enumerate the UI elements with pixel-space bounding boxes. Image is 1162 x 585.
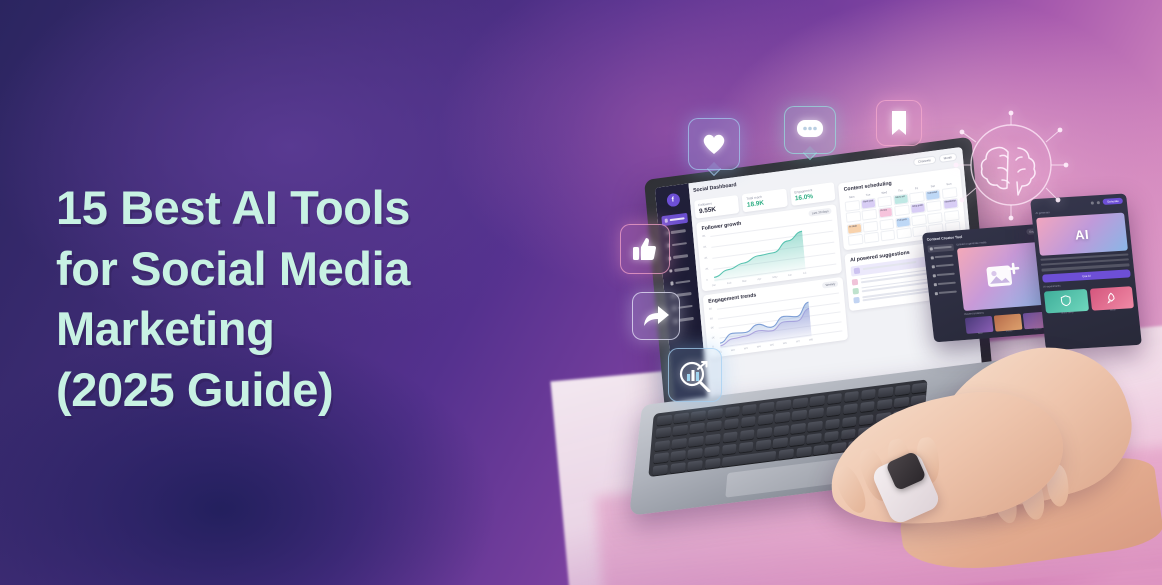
chart-y-tick: 1K xyxy=(711,336,714,339)
keyboard-key[interactable] xyxy=(724,419,739,430)
sidebar-item-label xyxy=(674,267,689,272)
creator-nav-label xyxy=(937,273,955,276)
keyboard-key[interactable] xyxy=(758,414,773,425)
keyboard-key[interactable] xyxy=(687,448,702,459)
calendar-cell[interactable]: Poll post xyxy=(895,216,911,228)
keyboard-key[interactable] xyxy=(859,414,874,425)
calendar-cell[interactable] xyxy=(927,212,943,224)
comment-glyph xyxy=(796,119,824,141)
engagement-trends-card: Weekly Engagement trends 01K2K3K4KW1W2W3… xyxy=(703,277,849,358)
keyboard-key[interactable] xyxy=(670,462,686,473)
headline-line-1: 15 Best AI Tools xyxy=(56,178,576,239)
chart-x-tick: W7 xyxy=(796,340,800,344)
calendar-cell[interactable]: AI draft xyxy=(847,222,863,234)
chart-y-tick: 4K xyxy=(709,307,712,310)
chart-x-tick: Feb xyxy=(727,282,732,286)
calendar-cell[interactable] xyxy=(864,232,880,244)
keyboard-key[interactable] xyxy=(827,393,842,404)
ai-panel-dot xyxy=(1091,201,1094,204)
keyboard-key[interactable] xyxy=(705,458,721,469)
keyboard-key[interactable] xyxy=(670,450,685,461)
calendar-cell[interactable] xyxy=(845,199,861,211)
sidebar-item-label xyxy=(676,292,691,297)
keyboard-key[interactable] xyxy=(808,420,823,431)
headline-line-2: for Social Media xyxy=(56,239,576,300)
keyboard-key[interactable] xyxy=(774,425,789,436)
bookmark-icon xyxy=(876,100,922,146)
page-title: 15 Best AI Tools for Social Media Market… xyxy=(56,178,576,421)
chart-y-tick: 8K xyxy=(702,235,705,238)
ai-brain-icon xyxy=(952,108,1070,226)
creator-nav-label xyxy=(935,255,953,258)
calendar-cell[interactable] xyxy=(926,200,942,212)
creator-nav-settings[interactable] xyxy=(932,288,959,297)
chart-x-tick: W5 xyxy=(770,344,774,348)
bookmark-glyph xyxy=(889,110,909,136)
keyboard-key[interactable] xyxy=(844,391,859,402)
keyboard-key[interactable] xyxy=(705,446,720,457)
chart-x-tick: W8 xyxy=(809,338,813,342)
chart-x-tick: Jun xyxy=(788,274,792,278)
rocket-icon xyxy=(1089,286,1134,310)
keyboard-key[interactable] xyxy=(912,383,927,394)
calendar-cell[interactable] xyxy=(846,211,862,223)
calendar-cell[interactable]: Story set xyxy=(893,193,909,205)
keyboard-key[interactable] xyxy=(778,449,794,460)
shield-icon xyxy=(1044,289,1089,313)
analytics-search-icon xyxy=(668,348,722,402)
heart-icon xyxy=(688,118,740,170)
keyboard-key[interactable] xyxy=(773,437,788,448)
nav-bullet-icon xyxy=(669,269,673,273)
keyboard-key[interactable] xyxy=(657,415,672,426)
creator-nav-icon xyxy=(931,265,934,268)
suggestion-text-line xyxy=(863,261,916,270)
keyboard-key[interactable] xyxy=(776,400,791,411)
keyboard-key[interactable] xyxy=(809,408,824,419)
keyboard-key[interactable] xyxy=(759,402,774,413)
sidebar-item-dashboard[interactable] xyxy=(661,213,688,226)
creator-thumbnails[interactable]: ReelPromoLaunch xyxy=(965,311,1052,336)
headline-line-3: Marketing xyxy=(56,299,576,360)
chart-y-tick: 2K xyxy=(711,326,714,329)
calendar-post-chip[interactable]: IG live xyxy=(879,208,892,218)
sidebar-item-label xyxy=(675,280,690,285)
chart-x-tick: May xyxy=(772,275,777,279)
calendar-cell[interactable] xyxy=(909,191,925,203)
creator-nav-icon xyxy=(930,256,933,259)
creator-nav-publish[interactable] xyxy=(931,279,958,288)
creator-nav-icon xyxy=(929,247,932,250)
headline-line-4: (2025 Guide) xyxy=(56,360,576,421)
chart-x-tick: Jan xyxy=(712,284,716,288)
creator-nav-label xyxy=(938,282,956,285)
sidebar-item-label xyxy=(670,217,685,222)
keyboard-key[interactable] xyxy=(674,413,689,424)
creator-nav-icon xyxy=(933,283,936,286)
keyboard-key[interactable] xyxy=(807,433,822,444)
keyboard-key[interactable] xyxy=(673,425,688,436)
calendar-cell[interactable] xyxy=(879,218,895,230)
brand-logo: f xyxy=(666,193,680,208)
heart-glyph xyxy=(701,132,727,156)
chart-y-tick: 0 xyxy=(706,279,708,282)
keyboard-key[interactable] xyxy=(877,399,892,410)
calendar-post-chip[interactable]: Story set xyxy=(894,194,907,204)
creator-panel-body: Upload or generate media Recent creation… xyxy=(927,236,1051,338)
keyboard-key[interactable] xyxy=(878,387,893,398)
keyboard-key[interactable] xyxy=(691,411,706,422)
comment-icon xyxy=(784,106,836,154)
creator-nav-label xyxy=(936,264,954,267)
creator-nav-brand[interactable] xyxy=(928,252,955,261)
sidebar-item-label xyxy=(671,229,686,234)
chart-y-tick: 6K xyxy=(703,246,706,249)
keyboard-key[interactable] xyxy=(655,440,670,451)
calendar-post-chip[interactable]: Carousel xyxy=(926,190,939,200)
calendar-post-chip[interactable]: Blog push xyxy=(911,203,924,213)
calendar-cell[interactable] xyxy=(862,209,878,221)
keyboard-key[interactable] xyxy=(841,428,856,439)
keyboard-key[interactable] xyxy=(790,435,805,446)
kpi-followers: Followers9.55K xyxy=(694,195,740,219)
creator-nav-icon xyxy=(932,274,935,277)
chart-y-tick: 2K xyxy=(705,267,708,270)
chart-y-tick: 3K xyxy=(710,317,713,320)
ai-tile[interactable]: Brand safety xyxy=(1044,289,1089,315)
creator-nav-create[interactable] xyxy=(927,243,954,252)
keyboard-key[interactable] xyxy=(742,404,757,415)
calendar-cell[interactable] xyxy=(894,204,910,216)
keyboard-key[interactable] xyxy=(813,444,829,455)
calendar-cell[interactable]: Blog push xyxy=(910,202,926,214)
keyboard-key[interactable] xyxy=(653,452,668,463)
calendar-cell[interactable] xyxy=(877,195,893,207)
keyboard-key[interactable] xyxy=(775,412,790,423)
keyboard-key[interactable] xyxy=(708,408,723,419)
calendar-cell[interactable]: Carousel xyxy=(925,189,941,201)
keyboard-key[interactable] xyxy=(723,431,738,442)
keyboard-key[interactable] xyxy=(757,427,772,438)
thumbs-up-icon xyxy=(620,224,670,274)
sidebar-item-label xyxy=(679,317,694,322)
calendar-post-chip[interactable]: Reel post xyxy=(862,198,875,208)
chart-x-tick: W2 xyxy=(731,349,735,353)
sidebar-item-label xyxy=(672,242,687,247)
keyboard-key[interactable] xyxy=(791,422,806,433)
keyboard-key[interactable] xyxy=(810,395,825,406)
creator-nav-label xyxy=(939,291,957,294)
calendar-cell[interactable] xyxy=(863,220,879,232)
keyboard-key[interactable] xyxy=(722,443,737,454)
kpi-total-reach: Total reach18.9K xyxy=(742,189,788,213)
keyboard-key[interactable] xyxy=(895,385,910,396)
keyboard-key[interactable] xyxy=(843,404,858,415)
chart-x-tick: Jul xyxy=(803,272,807,275)
calendar-cell[interactable]: IG live xyxy=(878,207,894,219)
keyboard-key[interactable] xyxy=(861,389,876,400)
keyboard-key[interactable] xyxy=(739,441,754,452)
keyboard-key[interactable] xyxy=(707,421,722,432)
creator-nav-library[interactable] xyxy=(929,261,956,270)
keyboard-key[interactable] xyxy=(842,416,857,427)
keyboard-key[interactable] xyxy=(690,423,705,434)
calendar-cell[interactable]: Reel post xyxy=(861,197,877,209)
suggestion-badge-icon xyxy=(853,287,859,294)
creator-nav-templates[interactable] xyxy=(930,270,957,279)
ai-tile-row[interactable]: Brand safetyBoost xyxy=(1044,286,1134,315)
keyboard-key[interactable] xyxy=(725,406,740,417)
scheduling-filter-channels[interactable]: Channels xyxy=(913,155,936,166)
chart-x-tick: W4 xyxy=(757,345,761,349)
creator-panel-title: Content Creator Tool xyxy=(926,235,962,242)
keyboard-key[interactable] xyxy=(756,439,771,450)
ai-tile[interactable]: Boost xyxy=(1089,286,1134,312)
analytics-search-glyph xyxy=(678,358,712,392)
keyboard-key[interactable] xyxy=(825,418,840,429)
calendar-cell[interactable] xyxy=(848,234,864,246)
share-icon xyxy=(632,292,680,340)
keyboard-key[interactable] xyxy=(689,435,704,446)
calendar-cell[interactable] xyxy=(911,214,927,226)
follower-growth-card: Last 30 days Follower growth 02K4K6K8KJa… xyxy=(696,204,842,291)
sidebar-item-label xyxy=(673,255,688,260)
ai-panel-dot-2 xyxy=(1097,201,1100,204)
calendar-cell[interactable] xyxy=(880,230,896,242)
suggestion-badge-icon xyxy=(854,296,860,303)
ai-generate-button[interactable]: Generate xyxy=(1103,198,1123,205)
calendar-post-chip[interactable]: AI draft xyxy=(848,223,861,233)
creator-nav-label xyxy=(934,246,952,249)
nav-bullet-icon xyxy=(670,281,674,285)
chart-x-tick: Apr xyxy=(757,278,761,282)
keyboard-key[interactable] xyxy=(796,446,812,457)
keyboard-key[interactable] xyxy=(826,406,841,417)
hero-banner: 15 Best AI Tools for Social Media Market… xyxy=(0,0,1162,585)
creator-thumbnail[interactable]: Promo xyxy=(994,314,1023,334)
keyboard-key[interactable] xyxy=(741,417,756,428)
chart-x-tick: W3 xyxy=(744,347,748,351)
thumbs-up-glyph xyxy=(632,236,658,262)
keyboard-key[interactable] xyxy=(792,410,807,421)
sidebar-item-posts[interactable] xyxy=(667,276,694,289)
keyboard-key[interactable] xyxy=(672,438,687,449)
keyboard-key[interactable] xyxy=(740,429,755,440)
keyboard-key[interactable] xyxy=(824,431,839,442)
calendar-cell[interactable] xyxy=(896,227,912,239)
keyboard-key[interactable] xyxy=(656,427,671,438)
kpi-engagement: Engagement16.0% xyxy=(790,182,836,206)
calendar-post-chip[interactable]: Poll post xyxy=(896,217,909,227)
chart-x-tick: Mar xyxy=(742,280,747,284)
keyboard-key[interactable] xyxy=(706,433,721,444)
share-glyph xyxy=(643,304,669,328)
keyboard-key[interactable] xyxy=(687,460,703,471)
chart-y-tick: 4K xyxy=(704,257,707,260)
keyboard-key[interactable] xyxy=(652,464,668,475)
image-plus-icon xyxy=(984,261,1021,291)
creator-thumbnail[interactable]: Reel xyxy=(965,316,994,336)
chart-x-tick: W6 xyxy=(783,342,787,346)
keyboard-key[interactable] xyxy=(860,401,875,412)
suggestion-badge-icon xyxy=(854,267,860,274)
nav-bullet-icon xyxy=(664,219,668,223)
keyboard-key[interactable] xyxy=(793,398,808,409)
creator-nav-icon xyxy=(934,292,937,295)
suggestion-badge-icon xyxy=(852,278,858,285)
